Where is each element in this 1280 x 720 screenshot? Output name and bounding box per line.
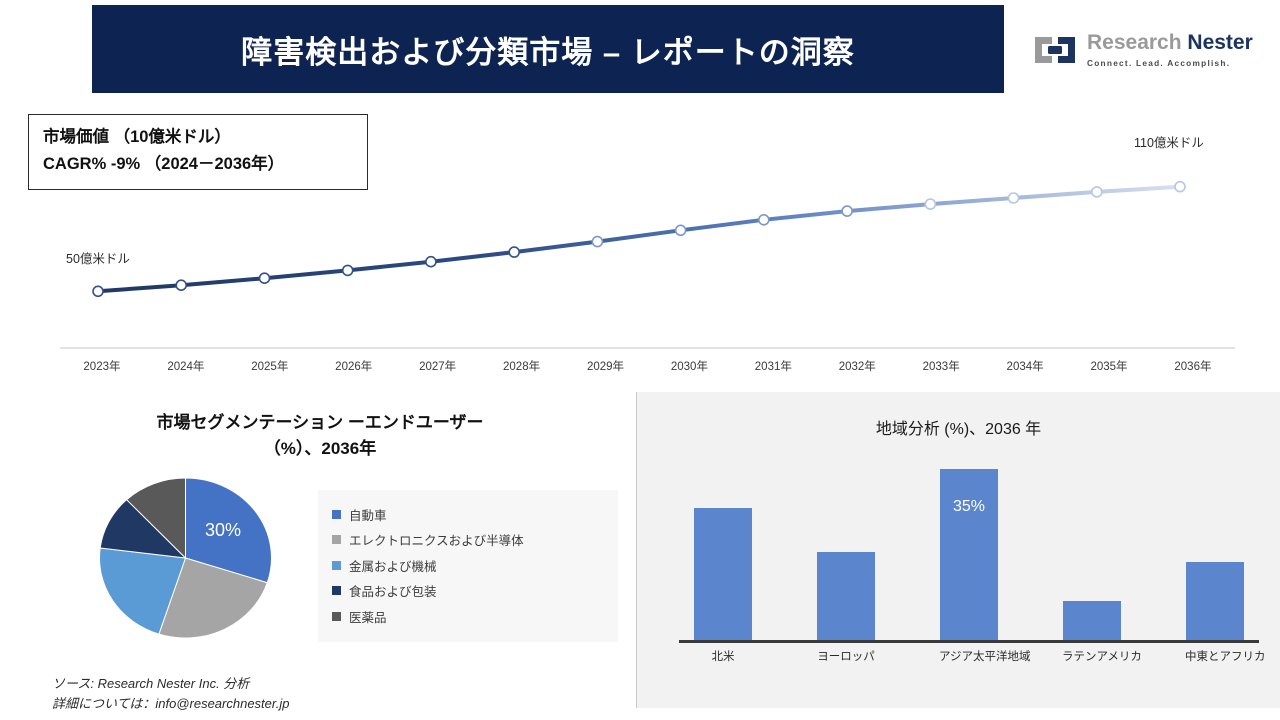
line-chart-point	[176, 280, 186, 290]
pie-legend-item[interactable]: エレクトロニクスおよび半導体	[332, 530, 612, 549]
bar-data-label: 35%	[939, 498, 999, 516]
bar-category-label: 中東とアフリカ	[1185, 648, 1245, 664]
line-chart-x-label: 2032年	[815, 358, 899, 374]
pie-legend-swatch	[332, 561, 341, 570]
pie-legend-label: 自動車	[349, 505, 387, 524]
pie-chart-legend: 自動車エレクトロニクスおよび半導体金属および機械食品および包装医薬品	[318, 490, 618, 642]
line-chart-point	[592, 237, 602, 247]
logo-name-research: Research	[1087, 31, 1182, 54]
pie-legend-label: 金属および機械	[349, 556, 437, 575]
footer-source: ソース: Research Nester Inc. 分析	[52, 674, 572, 694]
logo-tagline: Connect. Lead. Accomplish.	[1087, 58, 1253, 68]
logo-name-nester: Nester	[1187, 31, 1252, 54]
bar-column[interactable]	[693, 454, 753, 640]
line-chart-point	[759, 215, 769, 225]
bar-rect[interactable]	[1063, 601, 1121, 640]
line-chart-point	[343, 265, 353, 275]
line-chart-point	[1009, 193, 1019, 203]
line-chart-point	[93, 286, 103, 296]
segmentation-pie-panel: 市場セグメンテーション ーエンドユーザー （%）、2036年 30% 自動車エレ…	[0, 392, 628, 720]
bar-rect[interactable]	[1186, 562, 1244, 640]
brand-logo: Research Nester Connect. Lead. Accomplis…	[1032, 22, 1262, 78]
pie-legend-swatch	[332, 612, 341, 621]
pie-legend-label: 医薬品	[349, 607, 387, 626]
line-chart-x-label: 2035年	[1067, 358, 1151, 374]
pie-legend-swatch	[332, 535, 341, 544]
pie-slices	[100, 478, 272, 638]
line-chart-x-label: 2031年	[731, 358, 815, 374]
pie-title-line1: 市場セグメンテーション ーエンドユーザー	[156, 413, 483, 432]
line-chart-point	[509, 247, 519, 257]
logo-name: Research Nester	[1087, 32, 1253, 54]
pie-legend-swatch	[332, 510, 341, 519]
regional-analysis-bar-panel: 地域分析 (%)、2036 年 35% 北米ヨーロッパアジア太平洋地域ラテンアメ…	[636, 392, 1280, 708]
bar-category-label: 北米	[693, 648, 753, 664]
line-chart-point	[842, 206, 852, 216]
bar-column[interactable]	[1185, 454, 1245, 640]
line-chart-x-label: 2025年	[228, 358, 312, 374]
logo-chain-link-icon	[1032, 33, 1078, 67]
line-chart-point	[1175, 182, 1185, 192]
line-chart-x-label: 2033年	[899, 358, 983, 374]
market-value-line-chart: 50億米ドル 110億米ドル 2023年2024年2025年2026年2027年…	[0, 100, 1280, 385]
pie-chart-svg	[98, 478, 273, 638]
footer-note: ソース: Research Nester Inc. 分析 詳細については：inf…	[52, 674, 572, 714]
line-chart-end-label: 110億米ドル	[1134, 132, 1204, 151]
logo-mark-svg	[1032, 33, 1078, 67]
pie-title-line2: （%）、2036年	[264, 439, 376, 458]
line-chart-x-label: 2026年	[312, 358, 396, 374]
line-chart-x-label: 2030年	[647, 358, 731, 374]
line-chart-x-label: 2034年	[983, 358, 1067, 374]
bar-rect[interactable]	[694, 508, 752, 640]
bar-chart-plot: 35%	[693, 454, 1245, 640]
line-chart-svg	[0, 100, 1280, 385]
bar-category-label: ラテンアメリカ	[1062, 648, 1122, 664]
line-chart-x-axis-labels: 2023年2024年2025年2026年2027年2028年2029年2030年…	[60, 358, 1235, 374]
bar-column[interactable]	[816, 454, 876, 640]
line-chart-point	[260, 273, 270, 283]
line-chart-point	[925, 199, 935, 209]
footer-contact: 詳細については：info@researchnester.jp	[52, 694, 572, 714]
line-chart-point	[426, 257, 436, 267]
pie-data-label-automotive: 30%	[205, 520, 241, 541]
line-chart-start-label: 50億米ドル	[66, 248, 130, 267]
line-chart-x-label: 2024年	[144, 358, 228, 374]
line-chart-x-label: 2029年	[564, 358, 648, 374]
pie-chart	[98, 478, 273, 638]
line-chart-x-label: 2036年	[1151, 358, 1235, 374]
pie-chart-title: 市場セグメンテーション ーエンドユーザー （%）、2036年	[60, 410, 580, 463]
pie-legend-label: 食品および包装	[349, 581, 437, 600]
line-chart-x-label: 2027年	[396, 358, 480, 374]
line-chart-x-label: 2028年	[480, 358, 564, 374]
pie-legend-item[interactable]: 食品および包装	[332, 581, 612, 600]
bar-chart-axis	[679, 640, 1259, 643]
bar-category-label: ヨーロッパ	[816, 648, 876, 664]
bar-column[interactable]: 35%	[939, 454, 999, 640]
bar-column[interactable]	[1062, 454, 1122, 640]
pie-legend-item[interactable]: 金属および機械	[332, 556, 612, 575]
bar-category-label: アジア太平洋地域	[939, 648, 999, 664]
page-title: 障害検出および分類市場 – レポートの洞察	[241, 27, 854, 72]
pie-legend-item[interactable]: 医薬品	[332, 607, 612, 626]
line-chart-point	[1092, 187, 1102, 197]
bar-rect[interactable]	[817, 552, 875, 640]
logo-text: Research Nester Connect. Lead. Accomplis…	[1087, 32, 1253, 67]
pie-legend-label: エレクトロニクスおよび半導体	[349, 530, 524, 549]
line-chart-point	[676, 225, 686, 235]
bar-chart-category-labels: 北米ヨーロッパアジア太平洋地域ラテンアメリカ中東とアフリカ	[693, 648, 1245, 664]
bar-rect[interactable]	[940, 469, 998, 640]
line-chart-x-label: 2023年	[60, 358, 144, 374]
pie-legend-item[interactable]: 自動車	[332, 505, 612, 524]
pie-legend-swatch	[332, 586, 341, 595]
header-banner: 障害検出および分類市場 – レポートの洞察	[92, 5, 1004, 93]
bar-chart-title: 地域分析 (%)、2036 年	[637, 415, 1280, 439]
